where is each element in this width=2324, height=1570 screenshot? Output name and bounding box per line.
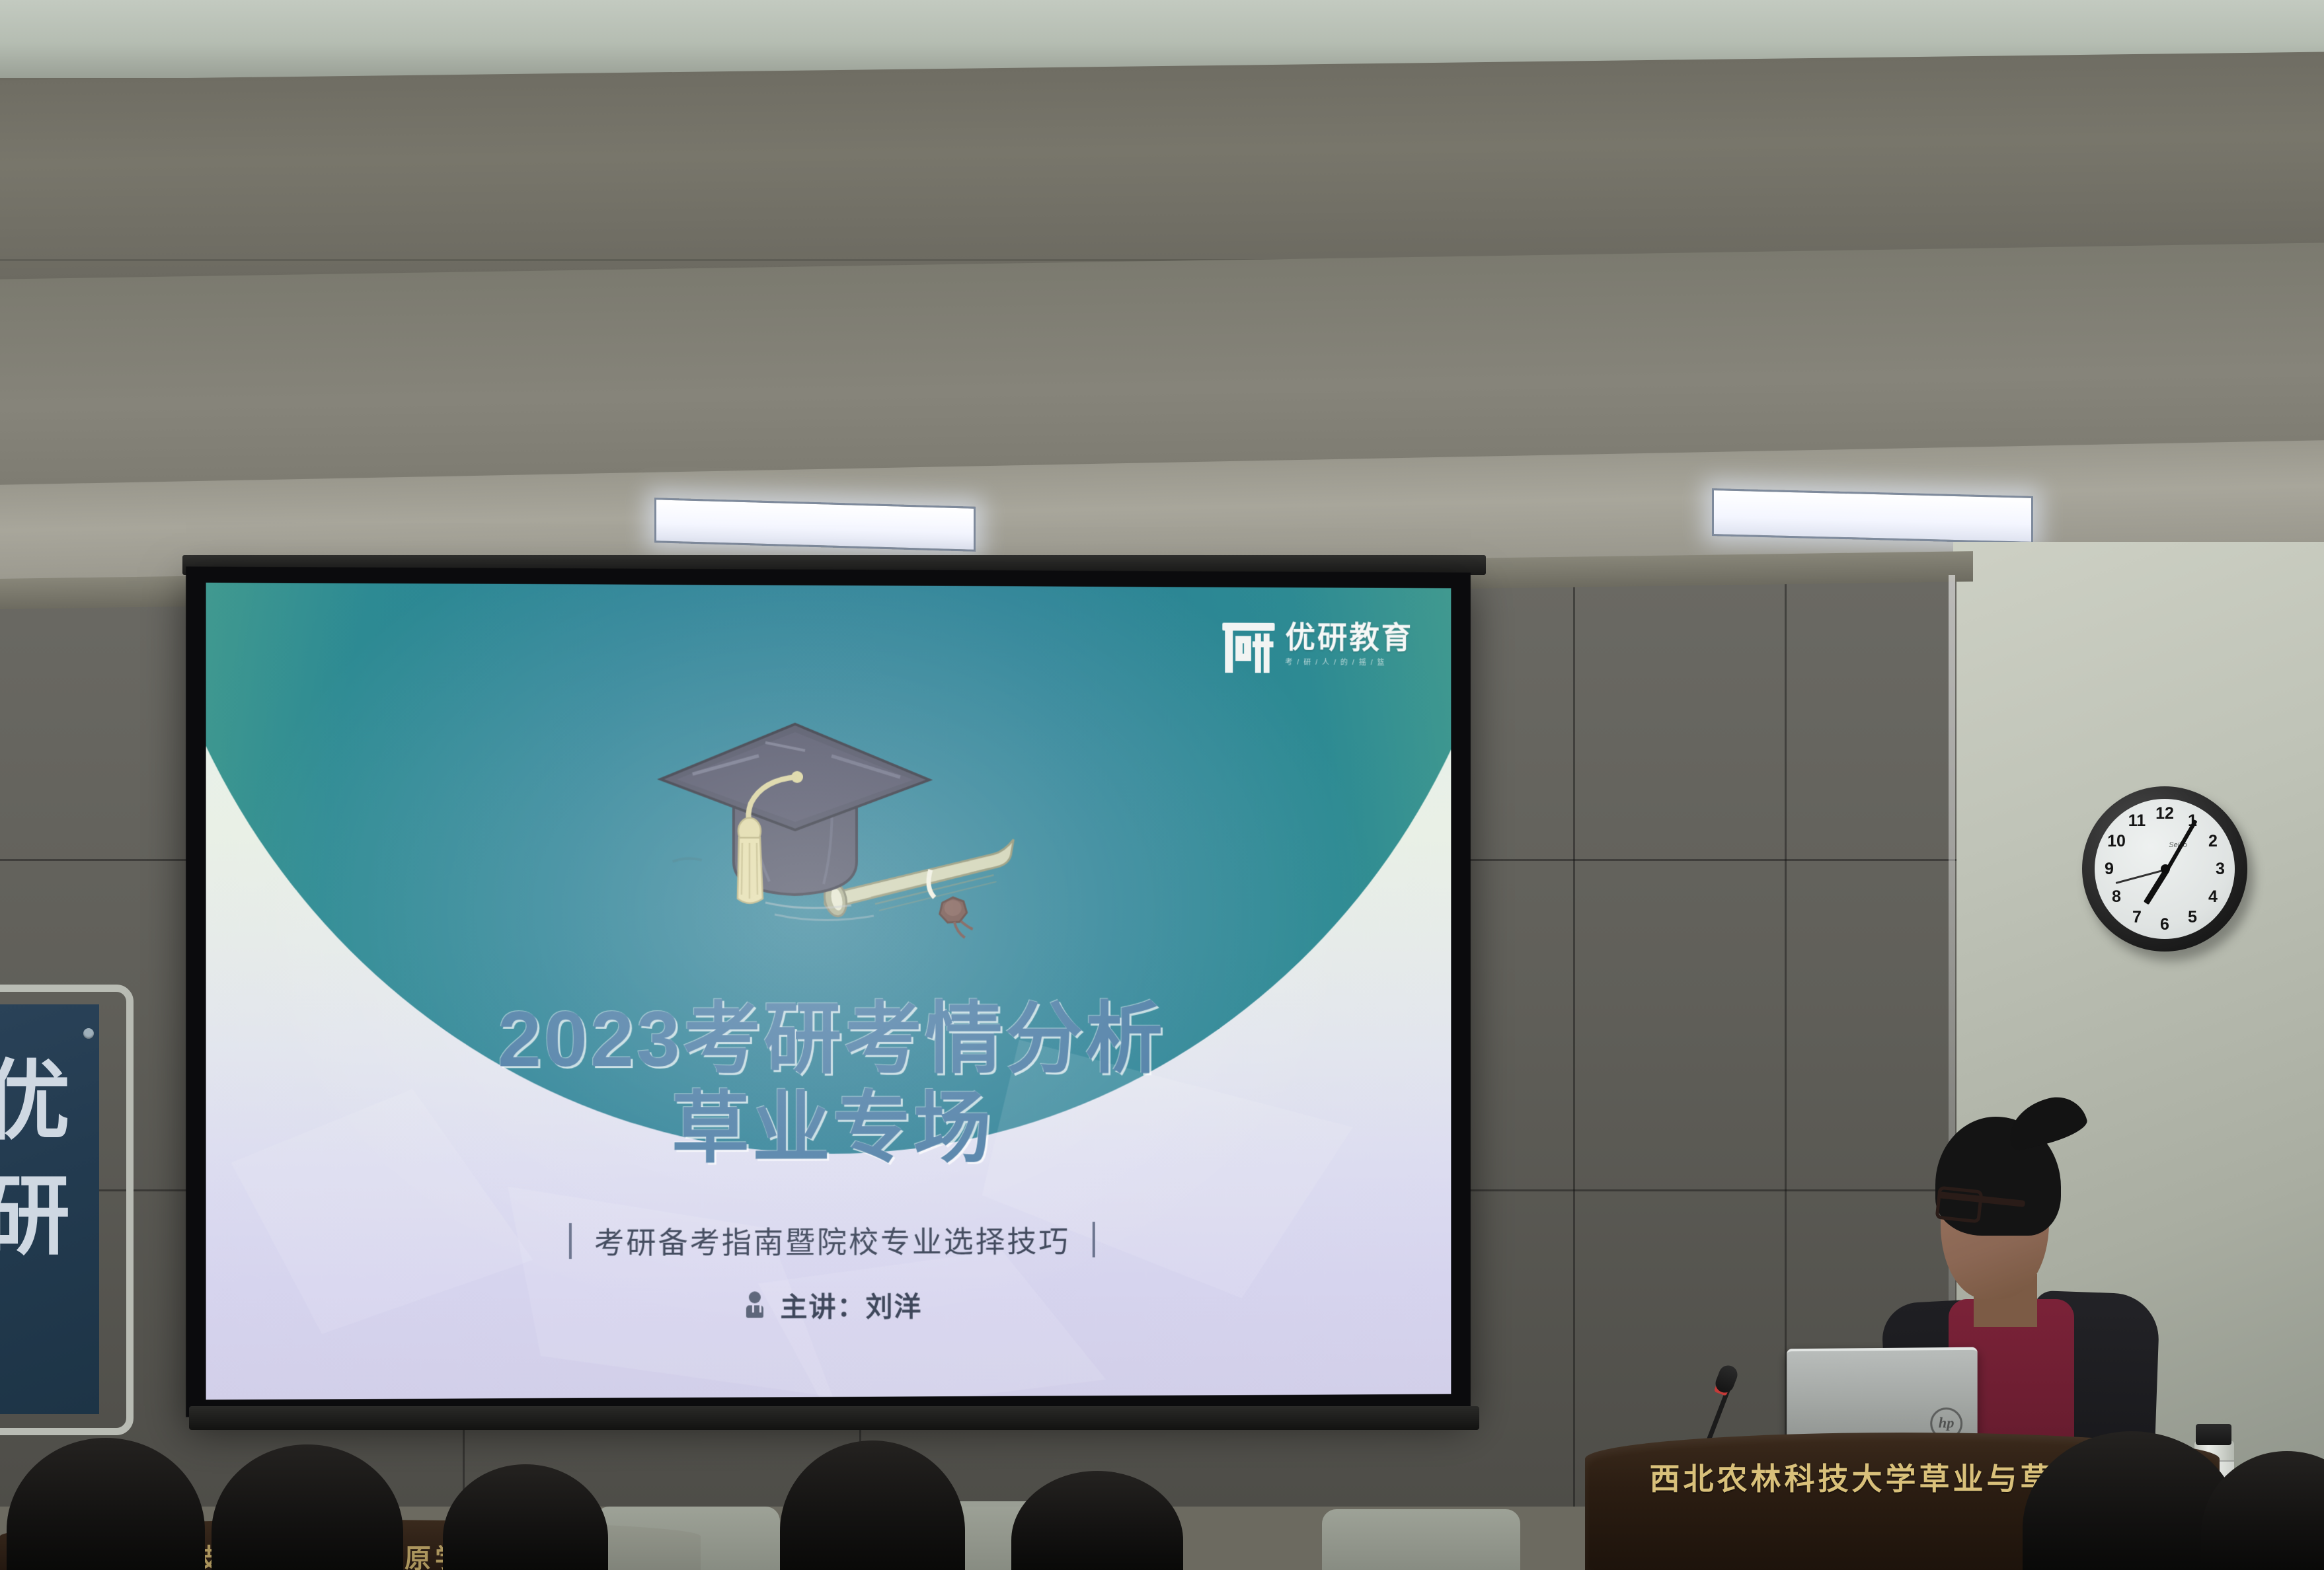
subtitle-rule-left <box>569 1223 572 1259</box>
brand-name: 优研教育 <box>1285 622 1413 653</box>
slide-title-line2: 草业专场 <box>206 1084 1452 1174</box>
graduation-cap-and-diploma-icon <box>633 663 1042 994</box>
seat-back <box>1322 1509 1520 1570</box>
slide-title-line1: 2023考研考情分析 <box>498 996 1165 1084</box>
bottle-cap <box>2196 1424 2231 1445</box>
lecture-hall-photo: Seiko 12 1 2 3 4 5 6 7 8 9 10 11 优研 <box>0 0 2324 1570</box>
clock-numeral: 7 <box>2126 909 2148 925</box>
slide-subtitle: 考研备考指南暨院校专业选择技巧 <box>594 1218 1070 1262</box>
clock-numeral: 8 <box>2105 889 2128 905</box>
presenter-label: 主讲：刘洋 <box>780 1285 922 1325</box>
led-panel-icon <box>654 498 976 552</box>
banner-text: 优研 <box>0 1044 75 1274</box>
clock-numeral: 2 <box>2202 833 2224 849</box>
projection-screen: 优研教育 考 / 研 / 人 / 的 / 摇 / 篮 <box>186 566 1471 1417</box>
research-gate-logo-icon <box>1222 621 1274 674</box>
presentation-slide: 优研教育 考 / 研 / 人 / 的 / 摇 / 篮 <box>206 583 1452 1400</box>
clock-numeral: 11 <box>2126 813 2148 829</box>
led-panel-icon <box>1712 488 2033 544</box>
slide-presenter-row: 主讲：刘洋 <box>206 1283 1452 1327</box>
slide-title: 2023考研考情分析 草业专场 <box>206 995 1452 1174</box>
clock-numeral: 6 <box>2153 916 2176 932</box>
clock-numeral: 4 <box>2202 889 2224 905</box>
clock-numeral: 12 <box>2153 805 2176 821</box>
subtitle-rule-right <box>1093 1221 1095 1257</box>
person-icon <box>743 1291 765 1318</box>
wall-clock: Seiko 12 1 2 3 4 5 6 7 8 9 10 11 <box>2082 786 2255 959</box>
banner-grommet-icon <box>83 1028 94 1039</box>
clock-center-pin <box>2161 864 2170 874</box>
clock-numeral: 9 <box>2098 861 2120 877</box>
brand-logo: 优研教育 考 / 研 / 人 / 的 / 摇 / 篮 <box>1222 621 1413 675</box>
clock-numeral: 3 <box>2209 861 2231 877</box>
clock-numeral: 5 <box>2181 909 2204 925</box>
seat-back <box>595 1507 780 1570</box>
brand-tagline: 考 / 研 / 人 / 的 / 摇 / 篮 <box>1285 657 1413 668</box>
slide-subtitle-row: 考研备考指南暨院校专业选择技巧 <box>206 1217 1452 1263</box>
clock-numeral: 10 <box>2105 833 2128 849</box>
screen-bottom-rail <box>189 1406 1479 1430</box>
